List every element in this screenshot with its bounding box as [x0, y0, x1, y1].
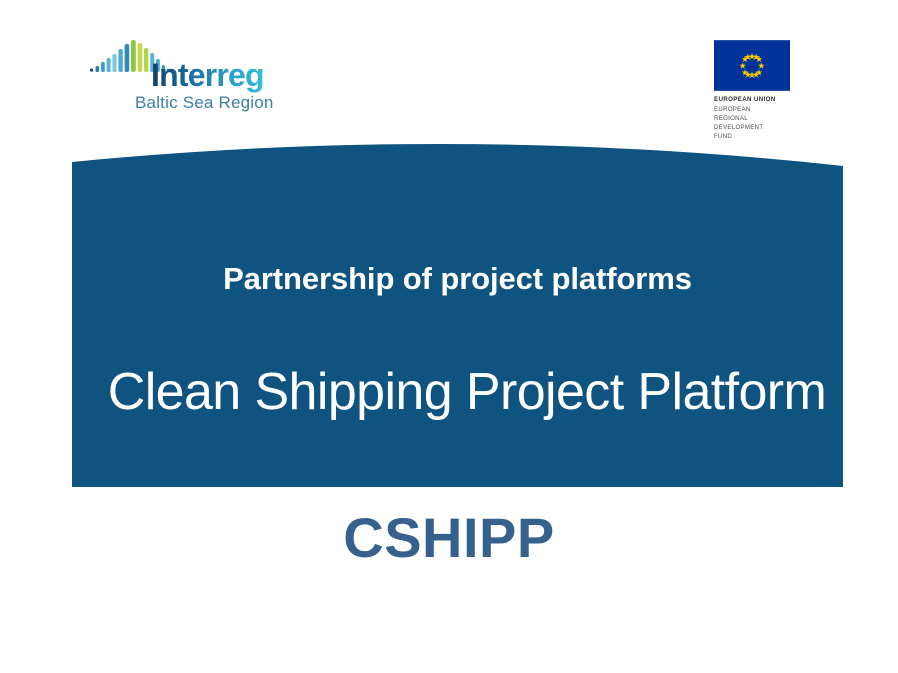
project-acronym: CSHIPP — [0, 505, 898, 570]
eu-flag-icon — [714, 40, 790, 91]
banner-title: Clean Shipping Project Platform — [72, 362, 843, 422]
interreg-wordmark-text: Interreg — [151, 57, 264, 93]
interreg-subtitle-text: Baltic Sea Region — [135, 93, 274, 112]
banner-text-layer: Partnership of project platforms Clean S… — [72, 130, 843, 488]
eu-fund-line-1: EUROPEAN — [714, 106, 818, 115]
banner-subtitle: Partnership of project platforms — [72, 261, 843, 297]
presentation-slide: Interreg Baltic Sea Region E — [0, 0, 898, 673]
interreg-logo-graphic: Interreg Baltic Sea Region — [88, 38, 298, 116]
eu-fund-line-2: REGIONAL — [714, 115, 818, 124]
interreg-logo: Interreg Baltic Sea Region — [88, 38, 298, 116]
european-union-logo: EUROPEAN UNION EUROPEAN REGIONAL DEVELOP… — [714, 40, 818, 138]
eu-union-label: EUROPEAN UNION — [714, 96, 818, 103]
